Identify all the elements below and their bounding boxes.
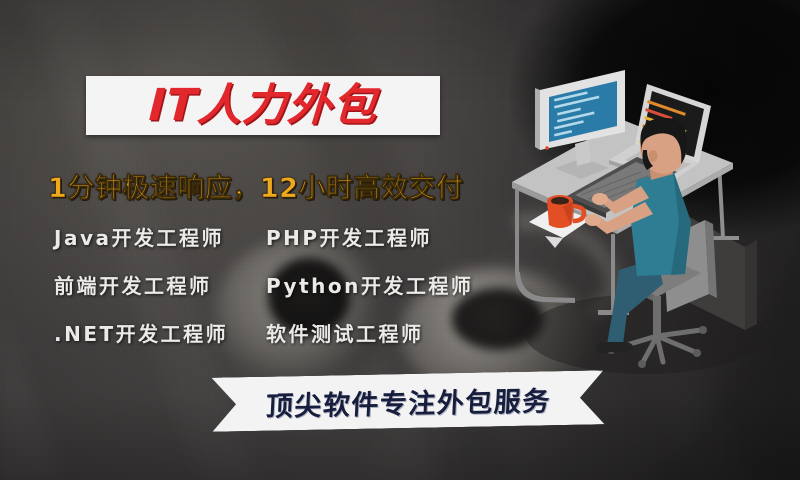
bottom-ribbon: 顶尖软件专注外包服务 <box>212 374 604 428</box>
headline-plate: IT人力外包 <box>86 76 440 135</box>
subtitle-text: 1分钟极速响应，12小时高效交付 <box>48 174 518 204</box>
job-row: 前端开发工程师 Python开发工程师 <box>54 270 504 299</box>
headline-text: IT人力外包 <box>148 84 379 128</box>
partition-panel-edge <box>745 240 757 330</box>
monitor-stand-neck <box>575 140 591 166</box>
chair-caster <box>693 349 701 357</box>
poster-canvas: IT人力外包 1分钟极速响应，12小时高效交付 Java开发工程师 PHP开发工… <box>0 0 800 480</box>
desk-leg-left-curve <box>515 272 575 303</box>
ribbon-text: 顶尖软件专注外包服务 <box>265 379 552 424</box>
programmer-desk-illustration <box>495 62 795 382</box>
developer-ear <box>649 150 658 162</box>
monitor-power-led <box>545 146 549 150</box>
desk-leg-right <box>611 234 615 312</box>
job-item-dotnet: .NET开发工程师 <box>54 318 266 347</box>
job-item-python: Python开发工程师 <box>266 270 473 299</box>
job-item-php: PHP开发工程师 <box>266 222 432 251</box>
job-row: .NET开发工程师 软件测试工程师 <box>54 318 504 347</box>
job-item-java: Java开发工程师 <box>54 222 266 251</box>
monitor-bezel-side <box>535 88 540 150</box>
chair-post <box>653 296 661 336</box>
job-item-software-testing: 软件测试工程师 <box>266 318 424 347</box>
job-list: Java开发工程师 PHP开发工程师 前端开发工程师 Python开发工程师 .… <box>54 222 504 347</box>
paper-sheet-fold <box>545 236 563 248</box>
desk-leg-left <box>515 188 519 274</box>
developer-hand <box>585 214 601 226</box>
chair-caster <box>699 326 707 334</box>
job-item-frontend: 前端开发工程师 <box>54 270 266 299</box>
developer-hand <box>592 193 608 205</box>
chair-caster <box>638 360 646 368</box>
job-row: Java开发工程师 PHP开发工程师 <box>54 222 504 251</box>
